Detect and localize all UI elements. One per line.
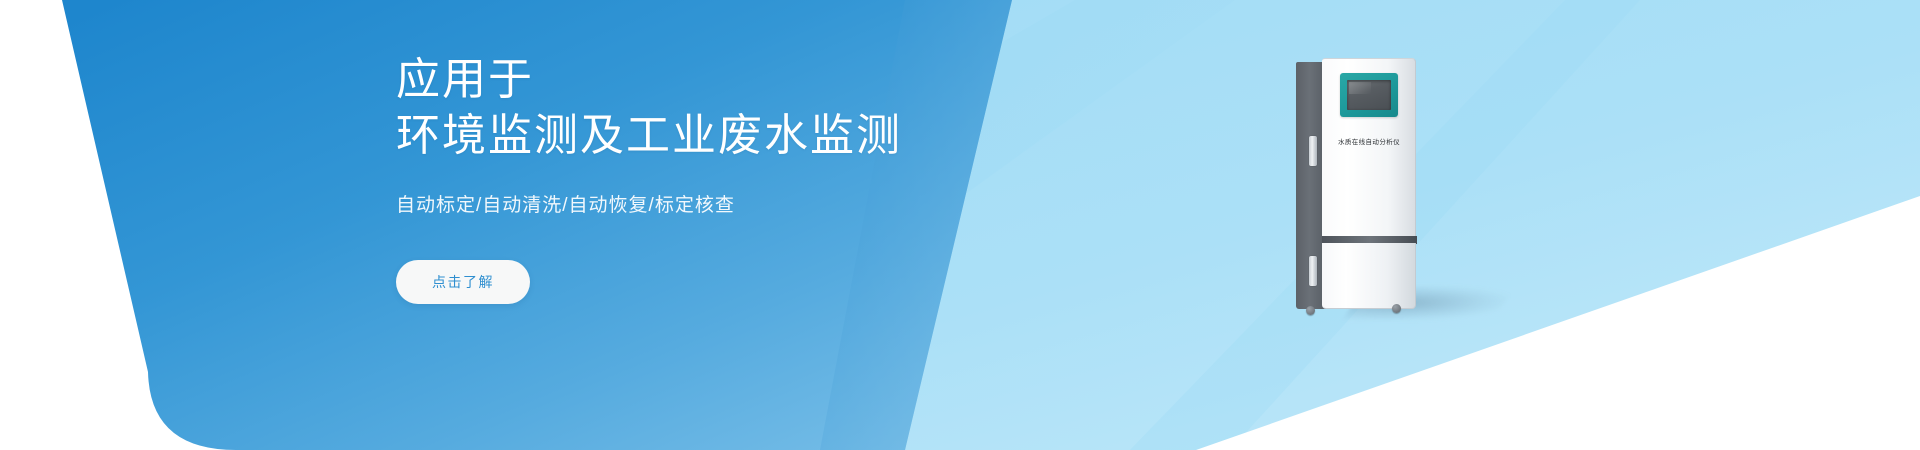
device-label: 水质在线自动分析仪 [1322, 136, 1416, 146]
hero-subtitle: 自动标定/自动清洗/自动恢复/标定核查 [396, 192, 1156, 220]
caster-wheel-icon-right [1392, 304, 1401, 313]
headline-line-2: 环境监测及工业废水监测 [396, 108, 1156, 164]
device-screen-bezel [1340, 73, 1398, 117]
door-handle-icon-upper [1309, 136, 1317, 166]
door-handle-icon-lower [1309, 256, 1317, 286]
hero-banner: 水质在线自动分析仪 应用于 环境监测及工业废水监测 自动标定/自动清洗/自动恢复… [0, 0, 1920, 450]
hero-copy: 应用于 环境监测及工业废水监测 自动标定/自动清洗/自动恢复/标定核查 点击了解 [396, 52, 1156, 304]
display-screen-icon [1347, 80, 1391, 110]
device-body: 水质在线自动分析仪 [1296, 58, 1416, 313]
device-lower-cabinet [1322, 243, 1416, 309]
caster-wheel-icon-left [1306, 306, 1315, 315]
learn-more-button[interactable]: 点击了解 [396, 260, 530, 304]
headline-line-1: 应用于 [396, 52, 1156, 108]
product-image-water-quality-analyzer: 水质在线自动分析仪 [1296, 58, 1496, 328]
